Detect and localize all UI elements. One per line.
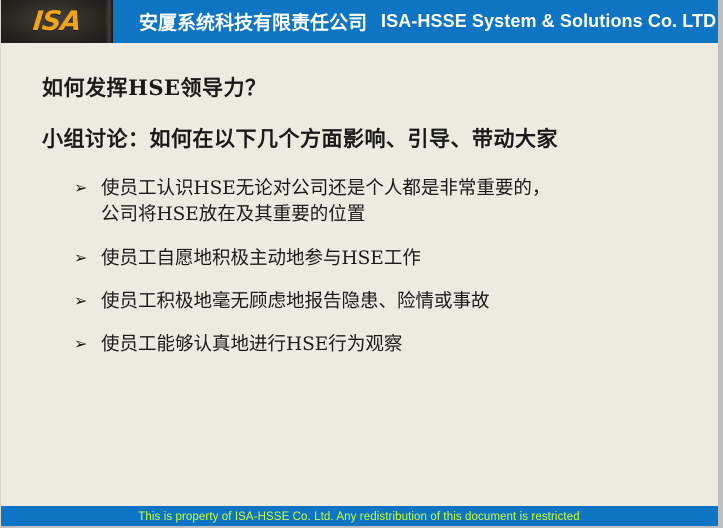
copyright-notice: This is property of ISA-HSSE Co. Ltd. An…: [138, 511, 579, 523]
list-item-label: 使员工能够认真地进行HSE行为观察: [101, 332, 674, 358]
list-item: ➢ 使员工积极地毫无顾虑地报告隐患、险情或事故: [74, 289, 674, 315]
slide: ISA 安厦系统科技有限责任公司 ISA-HSSE System & Solut…: [0, 0, 723, 528]
list-item-label: 使员工自愿地积极主动地参与HSE工作: [101, 246, 674, 272]
company-name-cn: 安厦系统科技有限责任公司: [139, 8, 367, 35]
slide-header: ISA 安厦系统科技有限责任公司 ISA-HSSE System & Solut…: [0, 0, 718, 43]
header-title-bar: 安厦系统科技有限责任公司 ISA-HSSE System & Solutions…: [113, 0, 718, 43]
slide-footer: This is property of ISA-HSSE Co. Ltd. An…: [0, 506, 718, 528]
logo-panel: ISA: [0, 0, 113, 43]
slide-heading-primary: 如何发挥HSE领导力？: [42, 72, 267, 102]
arrow-bullet-icon: ➢: [74, 246, 101, 271]
company-name-en: ISA-HSSE System & Solutions Co. LTD: [381, 11, 716, 32]
arrow-bullet-icon: ➢: [74, 332, 101, 357]
list-item-label: 使员工认识HSE无论对公司还是个人都是非常重要的， 公司将HSE放在及其重要的位…: [101, 176, 674, 229]
slide-body: 如何发挥HSE领导力？ 小组讨论：如何在以下几个方面影响、引导、带动大家 ➢ 使…: [0, 43, 718, 506]
arrow-bullet-icon: ➢: [74, 176, 101, 201]
slide-heading-secondary: 小组讨论：如何在以下几个方面影响、引导、带动大家: [42, 123, 558, 153]
arrow-bullet-icon: ➢: [74, 289, 101, 314]
list-item: ➢ 使员工认识HSE无论对公司还是个人都是非常重要的， 公司将HSE放在及其重要…: [74, 176, 674, 229]
list-item: ➢ 使员工自愿地积极主动地参与HSE工作: [74, 246, 674, 272]
list-item: ➢ 使员工能够认真地进行HSE行为观察: [74, 332, 674, 358]
isa-logo-icon: ISA: [31, 8, 81, 35]
bullet-list: ➢ 使员工认识HSE无论对公司还是个人都是非常重要的， 公司将HSE放在及其重要…: [74, 176, 674, 358]
list-item-label: 使员工积极地毫无顾虑地报告隐患、险情或事故: [101, 289, 674, 315]
